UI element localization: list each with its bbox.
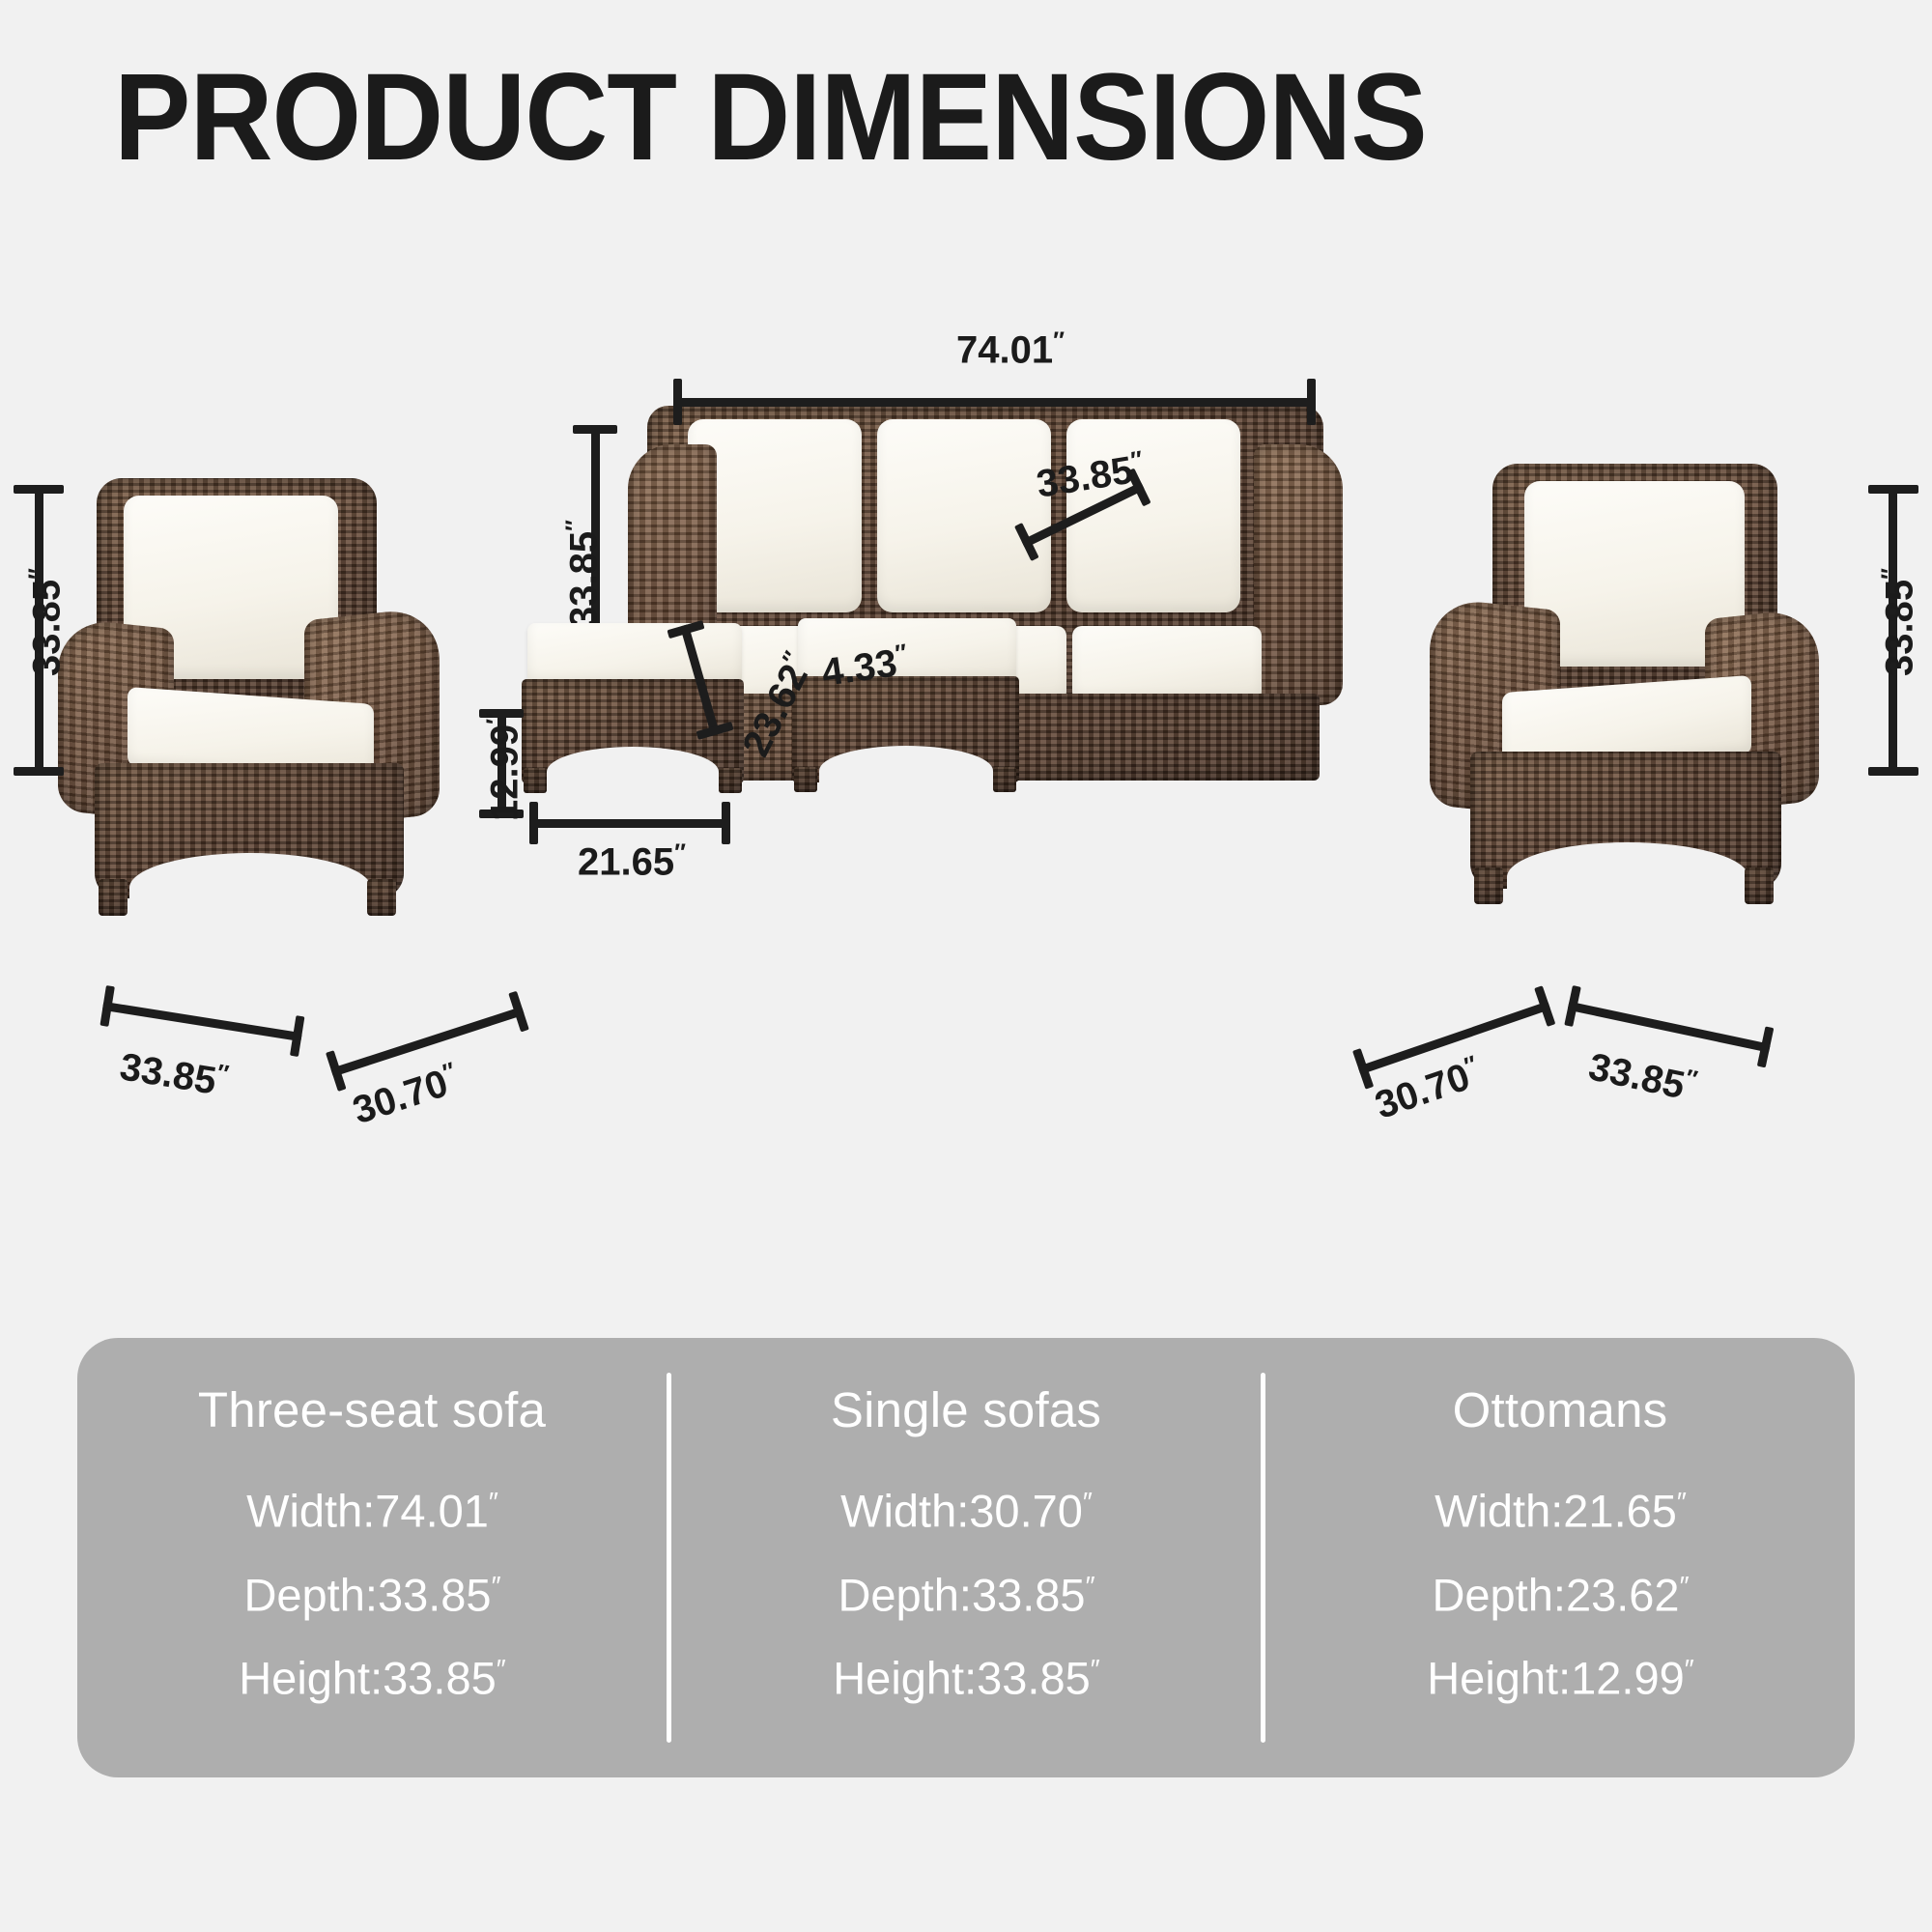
ottoman-right xyxy=(792,618,1019,816)
chair-leg-right xyxy=(1745,867,1774,904)
ottoman-base-arch xyxy=(819,746,993,796)
dim-cap-b xyxy=(290,1015,304,1057)
spec-column-title: Ottomans xyxy=(1453,1382,1668,1438)
chair-base-arch xyxy=(1507,842,1748,912)
dim-label-sofa-width: 74.01″ xyxy=(956,328,1064,372)
chair-leg-left xyxy=(99,879,128,916)
dim-line-ottoman-width xyxy=(529,819,730,828)
chair-base-arch xyxy=(129,853,371,923)
dim-label-ottoman-height: 12.99″ xyxy=(483,714,526,821)
spec-column-title: Single sofas xyxy=(831,1382,1101,1438)
spec-width: Width:30.70″ xyxy=(840,1471,1092,1542)
product-diagram: 33.85″ 33.85″ 30.70″ xyxy=(0,319,1932,1053)
spec-height: Height:33.85″ xyxy=(239,1638,505,1709)
ottoman-leg-right xyxy=(719,768,742,793)
ottoman-leg-right xyxy=(993,767,1016,792)
ottoman-leg-left xyxy=(794,767,817,792)
left-single-chair xyxy=(58,478,464,971)
page-title: PRODUCT DIMENSIONS xyxy=(114,60,1731,176)
spec-height: Height:12.99″ xyxy=(1427,1638,1693,1709)
dim-cap-right-chair-height-bottom xyxy=(1868,767,1918,776)
dim-cap-left-chair-height-bottom xyxy=(14,767,64,776)
dim-cap-sofa-width-right xyxy=(1307,379,1316,425)
spec-depth: Depth:33.85″ xyxy=(243,1555,499,1626)
sofa-back-cushion-2 xyxy=(877,419,1051,612)
dim-label-right-chair-height: 33.85″ xyxy=(1878,569,1921,676)
spec-depth: Depth:33.85″ xyxy=(838,1555,1094,1626)
spec-column-single-sofas: Single sofas Width:30.70″ Depth:33.85″ H… xyxy=(671,1338,1261,1777)
dim-line xyxy=(102,1002,302,1041)
chair-leg-right xyxy=(367,879,396,916)
dim-line xyxy=(1568,1002,1771,1053)
ottoman-base-arch xyxy=(547,747,719,797)
spec-depth: Depth:23.62″ xyxy=(1432,1555,1688,1626)
spec-width: Width:21.65″ xyxy=(1435,1471,1686,1542)
dim-label-left-chair-height: 33.85″ xyxy=(25,569,69,676)
spec-column-ottomans: Ottomans Width:21.65″ Depth:23.62″ Heigh… xyxy=(1265,1338,1855,1777)
spec-height: Height:33.85″ xyxy=(833,1638,1099,1709)
spec-width: Width:74.01″ xyxy=(246,1471,497,1542)
spec-column-title: Three-seat sofa xyxy=(198,1382,546,1438)
dim-cap-ottoman-width-right xyxy=(722,802,730,844)
chair-leg-left xyxy=(1474,867,1503,904)
spec-panel: Three-seat sofa Width:74.01″ Depth:33.85… xyxy=(77,1338,1855,1777)
right-single-chair xyxy=(1401,464,1816,966)
dim-line-sofa-width xyxy=(673,398,1316,407)
dim-label-ottoman-width: 21.65″ xyxy=(578,840,685,884)
sofa-right-arm xyxy=(1254,444,1343,705)
sofa-seat-cushion-3 xyxy=(1072,626,1262,701)
spec-column-three-seat-sofa: Three-seat sofa Width:74.01″ Depth:33.85… xyxy=(77,1338,667,1777)
dim-label-sofa-height: 33.85″ xyxy=(562,521,606,628)
ottoman-leg-left xyxy=(524,768,547,793)
